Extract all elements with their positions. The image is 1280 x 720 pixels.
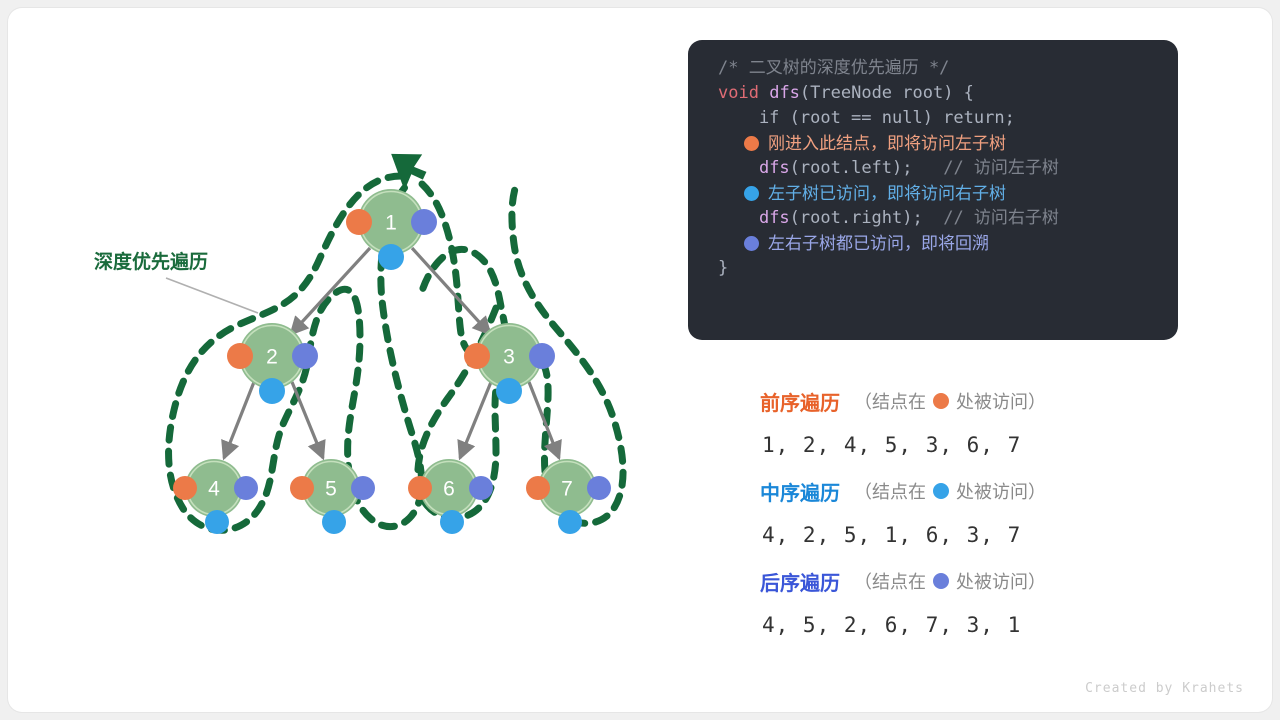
code-line: dfs(root.left); // 访问左子树	[688, 156, 1178, 181]
legend-title: 前序遍历	[760, 387, 840, 416]
legend-marker-dot	[933, 573, 949, 589]
code-token	[718, 206, 759, 231]
node-5-dot-pre	[290, 476, 314, 500]
legend-description: （结点在处被访问）	[854, 388, 1046, 414]
tree-node-3[interactable]: 3	[464, 323, 555, 404]
node-6-label: 6	[443, 478, 455, 501]
note-marker-dot	[744, 186, 759, 201]
legend-head: 前序遍历（结点在处被访问）	[688, 380, 1188, 422]
edge-2-5	[292, 382, 323, 458]
code-token: (root.right);	[790, 206, 923, 231]
code-token: // 访问右子树	[923, 206, 1059, 231]
code-note-text: 刚进入此结点，即将访问左子树	[768, 131, 1006, 156]
legend-desc-suffix: 处被访问）	[956, 478, 1046, 504]
legend-sequence: 4, 5, 2, 6, 7, 3, 1	[688, 602, 1188, 648]
legend-title: 后序遍历	[760, 567, 840, 596]
node-7-dot-pre	[526, 476, 550, 500]
code-token: dfs	[759, 156, 790, 181]
node-4-dot-in	[205, 510, 229, 534]
legend-head: 中序遍历（结点在处被访问）	[688, 470, 1188, 512]
code-token	[718, 156, 759, 181]
code-token: // 访问左子树	[913, 156, 1059, 181]
node-2-dot-in	[259, 378, 285, 404]
code-line: void dfs(TreeNode root) {	[688, 81, 1178, 106]
node-6-dot-post	[469, 476, 493, 500]
legend-desc-prefix: （结点在	[854, 478, 926, 504]
node-7-label: 7	[561, 478, 573, 501]
code-token: void	[718, 81, 759, 106]
node-1-dot-in	[378, 244, 404, 270]
code-line: dfs(root.right); // 访问右子树	[688, 206, 1178, 231]
caption-leader-line	[166, 278, 258, 313]
node-1-dot-pre	[346, 209, 372, 235]
code-line: }	[688, 256, 1178, 281]
code-note-text: 左子树已访问，即将访问右子树	[768, 181, 1006, 206]
legend-head: 后序遍历（结点在处被访问）	[688, 560, 1188, 602]
legend-title: 中序遍历	[760, 477, 840, 506]
node-5-dot-in	[322, 510, 346, 534]
node-6-dot-in	[440, 510, 464, 534]
legend-marker-dot	[933, 483, 949, 499]
code-note-line: 左右子树都已访问，即将回溯	[688, 231, 1178, 256]
note-marker-dot	[744, 136, 759, 151]
node-6-dot-pre	[408, 476, 432, 500]
tree-node-5[interactable]: 5	[290, 459, 375, 534]
code-token: /* 二叉树的深度优先遍历 */	[718, 56, 949, 81]
node-5-label: 5	[325, 478, 337, 501]
code-line: /* 二叉树的深度优先遍历 */	[688, 56, 1178, 81]
legend-desc-prefix: （结点在	[854, 388, 926, 414]
code-token: dfs	[769, 81, 800, 106]
node-2-dot-pre	[227, 343, 253, 369]
legend-block: 后序遍历（结点在处被访问）4, 5, 2, 6, 7, 3, 1	[688, 560, 1188, 648]
tree-svg: 1 2 3	[8, 8, 688, 712]
code-token: }	[718, 256, 728, 281]
code-note-text: 左右子树都已访问，即将回溯	[768, 231, 989, 256]
tree-node-2[interactable]: 2	[227, 323, 318, 404]
legend-desc-prefix: （结点在	[854, 568, 926, 594]
legend-sequence: 4, 2, 5, 1, 6, 3, 7	[688, 512, 1188, 558]
figure-card: 1 2 3	[8, 8, 1272, 712]
note-marker-dot	[744, 236, 759, 251]
legend-marker-dot	[933, 393, 949, 409]
node-4-dot-pre	[173, 476, 197, 500]
traversal-legend: 前序遍历（结点在处被访问）1, 2, 4, 5, 3, 6, 7中序遍历（结点在…	[688, 380, 1188, 650]
code-note-line: 左子树已访问，即将访问右子树	[688, 181, 1178, 206]
legend-desc-suffix: 处被访问）	[956, 568, 1046, 594]
edge-3-6	[460, 382, 491, 458]
node-3-dot-pre	[464, 343, 490, 369]
legend-description: （结点在处被访问）	[854, 478, 1046, 504]
binary-tree-diagram: 1 2 3	[8, 8, 688, 712]
legend-block: 前序遍历（结点在处被访问）1, 2, 4, 5, 3, 6, 7	[688, 380, 1188, 468]
legend-block: 中序遍历（结点在处被访问）4, 2, 5, 1, 6, 3, 7	[688, 470, 1188, 558]
code-line: if (root == null) return;	[688, 106, 1178, 131]
node-3-dot-in	[496, 378, 522, 404]
legend-desc-suffix: 处被访问）	[956, 388, 1046, 414]
code-token	[759, 81, 769, 106]
code-token: (root.left);	[790, 156, 913, 181]
node-1-dot-post	[411, 209, 437, 235]
node-4-label: 4	[208, 478, 220, 501]
node-2-label: 2	[266, 346, 278, 369]
dfs-caption: 深度优先遍历	[94, 250, 208, 273]
legend-sequence: 1, 2, 4, 5, 3, 6, 7	[688, 422, 1188, 468]
node-7-dot-in	[558, 510, 582, 534]
code-token: dfs	[759, 206, 790, 231]
node-4-dot-post	[234, 476, 258, 500]
legend-description: （结点在处被访问）	[854, 568, 1046, 594]
code-token: (TreeNode root) {	[800, 81, 974, 106]
node-2-dot-post	[292, 343, 318, 369]
node-7-dot-post	[587, 476, 611, 500]
node-5-dot-post	[351, 476, 375, 500]
code-block: /* 二叉树的深度优先遍历 */void dfs(TreeNode root) …	[688, 40, 1178, 340]
node-3-label: 3	[503, 346, 515, 369]
node-1-label: 1	[385, 212, 397, 235]
code-token: if (root == null) return;	[718, 106, 1015, 131]
edge-2-4	[224, 382, 254, 458]
watermark: Created by Krahets	[1085, 681, 1244, 696]
code-note-line: 刚进入此结点，即将访问左子树	[688, 131, 1178, 156]
node-3-dot-post	[529, 343, 555, 369]
